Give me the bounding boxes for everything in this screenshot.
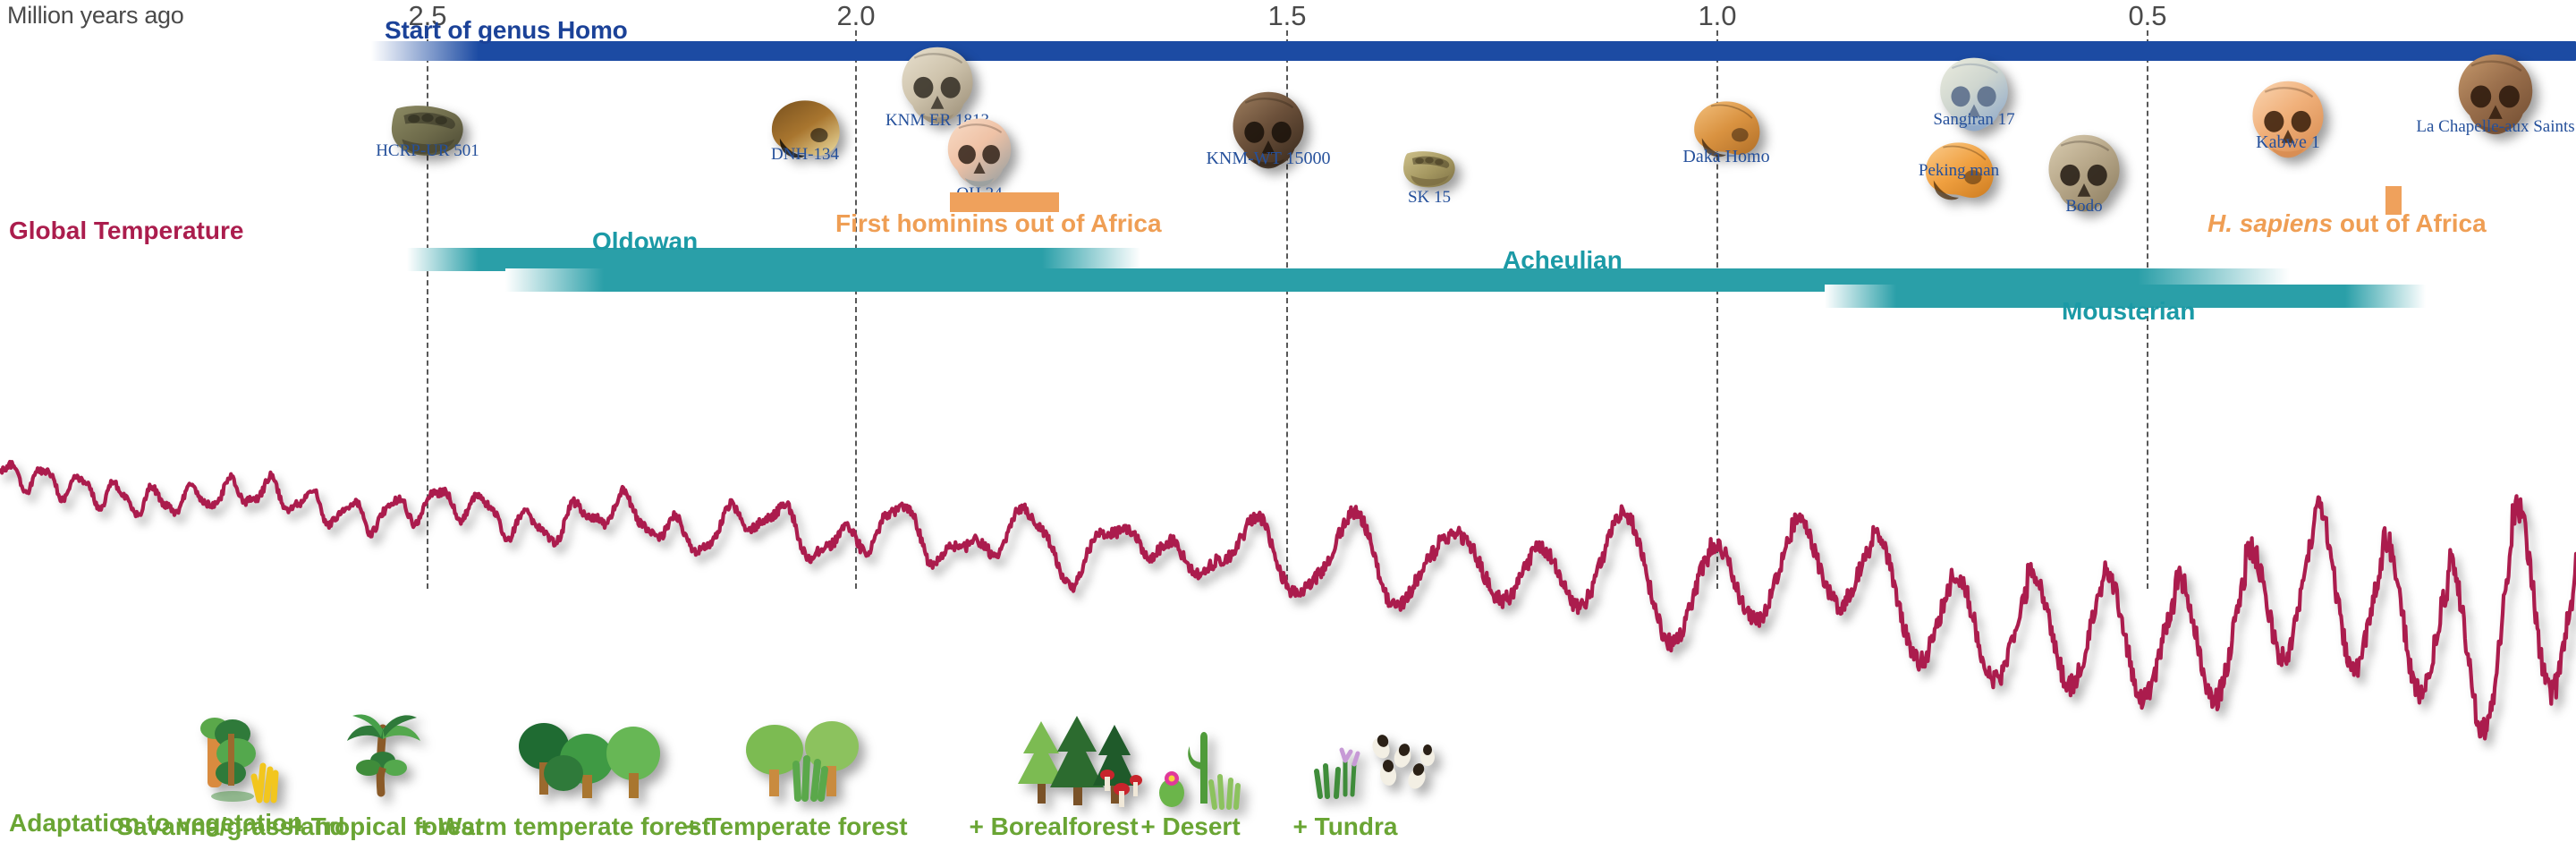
vegetation-label: + Tundra [1293, 812, 1398, 841]
vegetation-icon-boreal [1007, 707, 1150, 828]
fossil-caption-text: Kabwe 1 [2256, 132, 2320, 152]
fossil-caption: KNM-WT 15000 [1206, 149, 1330, 169]
vegetation-icon-tempforest [732, 707, 884, 819]
global-temperature-label: Global Temperature [9, 217, 243, 245]
fossil-caption-text: Bodo [2065, 197, 2102, 216]
timeline-figure: Million years ago 2.52.01.51.00.5 Start … [0, 0, 2576, 859]
fossil-caption: Bodo [2065, 197, 2102, 217]
axis-tick-label: 2.0 [836, 0, 875, 32]
fossil-caption-text: DNH-134 [771, 145, 839, 164]
fossil-caption: DNH-134 [771, 145, 839, 165]
fossil-caption: La Chapelle-aux Saints [2416, 117, 2574, 137]
fossil-image [1387, 149, 1471, 191]
fossil-caption: Daka Homo [1682, 147, 1769, 167]
vegetation-icon-warmforest [508, 707, 678, 819]
fossil-caption: SK 15 [1408, 188, 1451, 208]
fossil-caption-text: SK 15 [1408, 188, 1451, 207]
fossil-image [941, 116, 1018, 190]
fossil-item [1387, 149, 1471, 191]
fossil-caption-text: Sangiran 17 [1933, 110, 2014, 129]
fossil-caption: Kabwe 1 [2256, 132, 2320, 153]
fossil-caption: HCRP-UR 501 [376, 141, 479, 161]
migration-label: First hominins out of Africa [835, 209, 1162, 238]
vegetation-label: + Borealforest [969, 812, 1138, 841]
axis-tick-label: 1.0 [1698, 0, 1736, 32]
fossil-item [941, 116, 1018, 190]
industry-label: Oldowan [592, 227, 698, 256]
axis-tick-label: 0.5 [2128, 0, 2166, 32]
vegetation-icon-tundra [1306, 707, 1449, 810]
vegetation-label: + Warm temperate forest [417, 812, 710, 841]
industry-label: Mousterian [2062, 297, 2195, 326]
industry-label: Acheulian [1503, 246, 1623, 275]
vegetation-icon-palm [329, 707, 436, 819]
fossil-caption-text: Daka Homo [1682, 147, 1769, 166]
fossil-caption: Sangiran 17 [1933, 110, 2014, 130]
axis-tick-label: 1.5 [1267, 0, 1306, 32]
vegetation-icon-savanna [177, 707, 284, 819]
fossil-caption-text: Peking man [1919, 161, 1999, 180]
axis-title: Million years ago [7, 2, 184, 30]
genus-homo-bar [371, 41, 2576, 61]
genus-homo-label: Start of genus Homo [385, 16, 628, 45]
fossil-caption-text: La Chapelle-aux Saints [2416, 117, 2574, 136]
vegetation-label: + Desert [1140, 812, 1240, 841]
fossil-caption: Peking man [1919, 161, 1999, 181]
fossil-caption-text: KNM-WT 15000 [1206, 149, 1330, 168]
fossil-caption-text: HCRP-UR 501 [376, 141, 479, 160]
vegetation-icon-desert [1150, 707, 1249, 819]
vegetation-label: + Temperate forest [684, 812, 907, 841]
migration-label: H. sapiens out of Africa [2207, 209, 2487, 238]
